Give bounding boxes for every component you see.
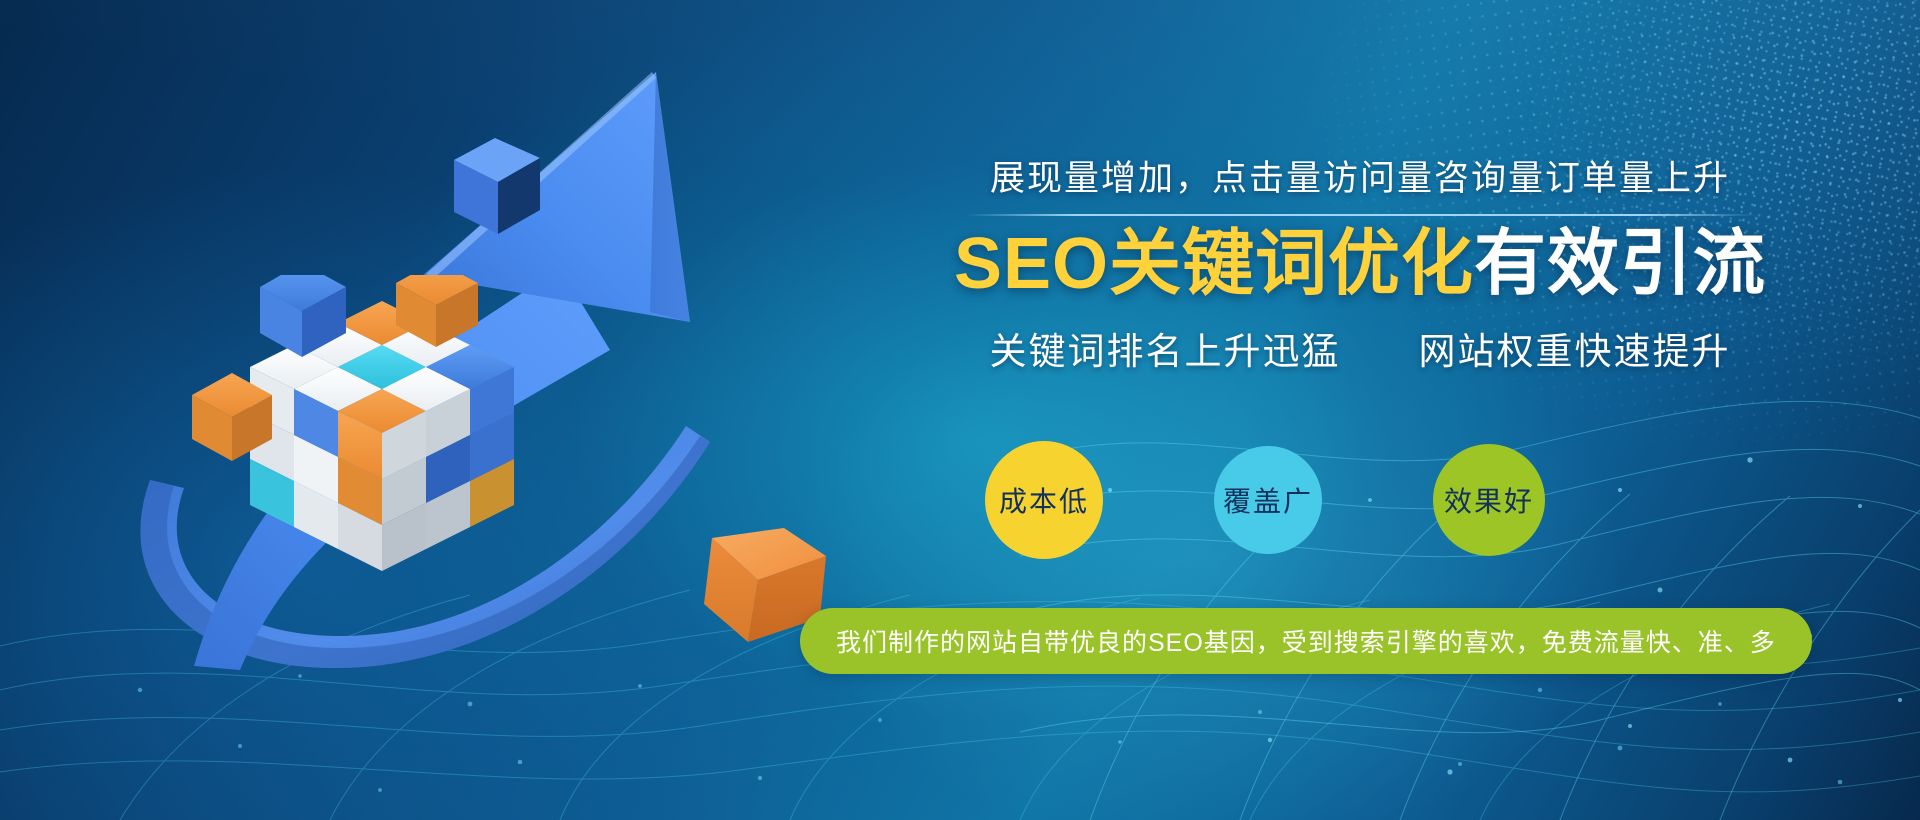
headline-highlight-text: SEO关键词优化 xyxy=(954,224,1474,304)
badge-label: 成本低 xyxy=(999,480,1089,520)
headline-block: 展现量增加，点击量访问量咨询量订单量上升 SEO关键词优化有效引流 关键词排名上… xyxy=(860,150,1860,375)
main-headline: SEO关键词优化有效引流 xyxy=(860,222,1860,307)
tagline-text: 展现量增加，点击量访问量咨询量订单量上升 xyxy=(860,150,1860,201)
seo-promo-banner: 展现量增加，点击量访问量咨询量订单量上升 SEO关键词优化有效引流 关键词排名上… xyxy=(0,0,1920,820)
floating-blue-cube-graphic xyxy=(440,130,550,245)
badge-label: 覆盖广 xyxy=(1223,480,1313,520)
headline-rest-text: 有效引流 xyxy=(1474,224,1766,304)
divider-rule xyxy=(965,214,1755,216)
badge-effect-good[interactable]: 效果好 xyxy=(1433,444,1545,556)
benefit-badges: 成本低 覆盖广 效果好 xyxy=(985,420,1545,580)
badge-cost-low[interactable]: 成本低 xyxy=(985,441,1103,559)
subline-text: 关键词排名上升迅猛 网站权重快速提升 xyxy=(860,321,1860,375)
footer-note-text: 我们制作的网站自带优良的SEO基因，受到搜索引擎的喜欢，免费流量快、准、多 xyxy=(836,623,1776,659)
badge-coverage-wide[interactable]: 覆盖广 xyxy=(1214,446,1322,554)
footer-note-pill: 我们制作的网站自带优良的SEO基因，受到搜索引擎的喜欢，免费流量快、准、多 xyxy=(800,608,1812,674)
rubiks-cube-3d-graphic xyxy=(140,275,520,605)
network-wireframe-right xyxy=(1020,340,1920,820)
badge-label: 效果好 xyxy=(1444,480,1534,520)
